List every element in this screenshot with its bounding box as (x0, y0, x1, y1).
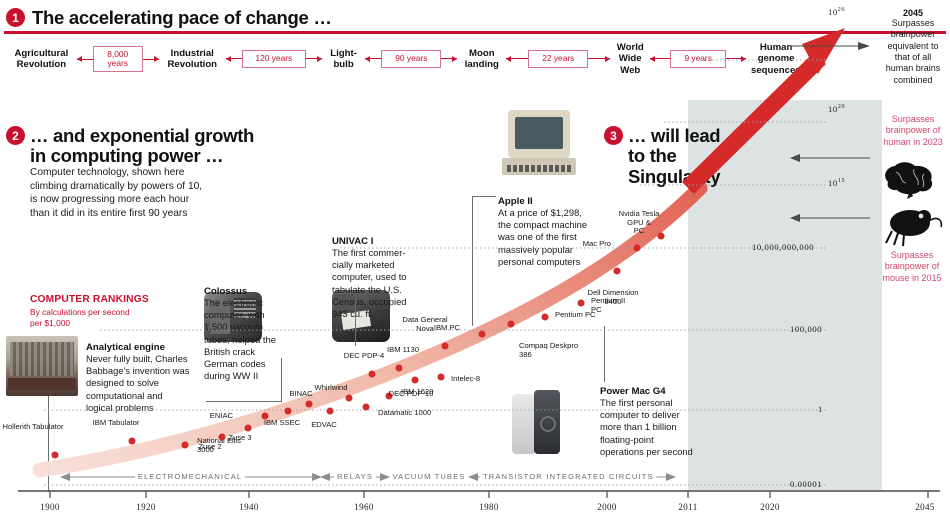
data-label-zuse-2: Zuse 2 (198, 443, 221, 452)
data-point-data-general-nova (442, 343, 449, 350)
data-label-nvidia-tesla-gpu-pc: Nvidia TeslaGPU &PC (619, 210, 660, 236)
data-point-national-ellis-3000 (182, 442, 189, 449)
data-point-zuse-3 (245, 425, 252, 432)
data-label-intelec-8: Intelec-8 (451, 375, 480, 384)
data-label-dec-pdp-10: DEC PDP-10 (389, 390, 434, 399)
data-label-dec-pdp-4: DEC PDP-4 (344, 352, 385, 361)
data-point-whirlwind (346, 395, 353, 402)
data-point-mac-pro (634, 245, 641, 252)
data-point-datamatic-1000 (363, 404, 370, 411)
data-point-ibm-tabulator (129, 438, 136, 445)
data-point-dell-dimension-8400 (614, 268, 621, 275)
annotation-2045: 2045 Surpasses brainpower equivalent to … (880, 8, 946, 86)
data-point-zuse-2 (219, 434, 226, 441)
data-label-ibm-pc: IBM PC (434, 324, 460, 333)
annotation-mouse-brain: Surpasses brainpower of mouse in 2015 (874, 250, 950, 284)
data-label-ibm-ssec: IBM SSEC (264, 419, 300, 428)
data-point-pentium-pc (542, 314, 549, 321)
data-label-binac: BINAC (289, 390, 312, 399)
data-label-edvac: EDVAC (311, 421, 337, 430)
data-label-compaq-deskpro-386: Compaq Deskpro386 (519, 342, 578, 359)
data-point-edvac (327, 408, 334, 415)
annotation-human-brain: Surpasses brainpower of human in 2023 (878, 114, 948, 148)
data-point-ibm-pc (479, 331, 486, 338)
data-label-ibm-tabulator: IBM Tabulator (93, 419, 140, 428)
data-label-mac-pro: Mac Pro (583, 240, 611, 249)
data-point-binac (306, 401, 313, 408)
data-point-ibm-ssec (285, 408, 292, 415)
data-label-whirlwind: Whirlwind (315, 384, 348, 393)
data-point-intelec-8 (438, 374, 445, 381)
data-point-ibm-1130 (396, 365, 403, 372)
data-label-eniac: ENIAC (210, 412, 233, 421)
data-point-dec-pdp-4 (369, 371, 376, 378)
chart-points-layer: Hollerith TabulatorIBM TabulatorNational… (0, 0, 950, 522)
data-point-dec-pdp-10 (412, 377, 419, 384)
data-point-hollerith-tabulator (52, 452, 59, 459)
data-label-pentium-pc: Pentium PC (555, 311, 596, 320)
data-point-compaq-deskpro-386 (508, 321, 515, 328)
brain-icon (880, 160, 942, 200)
data-label-ibm-1130: IBM 1130 (387, 346, 419, 355)
data-label-zuse-3: Zuse 3 (228, 434, 251, 443)
data-label-dell-dimension-8400: Dell Dimension8400 (587, 289, 638, 306)
data-label-datamatic-1000: Datamatic 1000 (378, 409, 431, 418)
data-point-pentium-ii-pc (578, 300, 585, 307)
mouse-icon (880, 205, 944, 251)
data-label-hollerith-tabulator: Hollerith Tabulator (2, 423, 63, 432)
